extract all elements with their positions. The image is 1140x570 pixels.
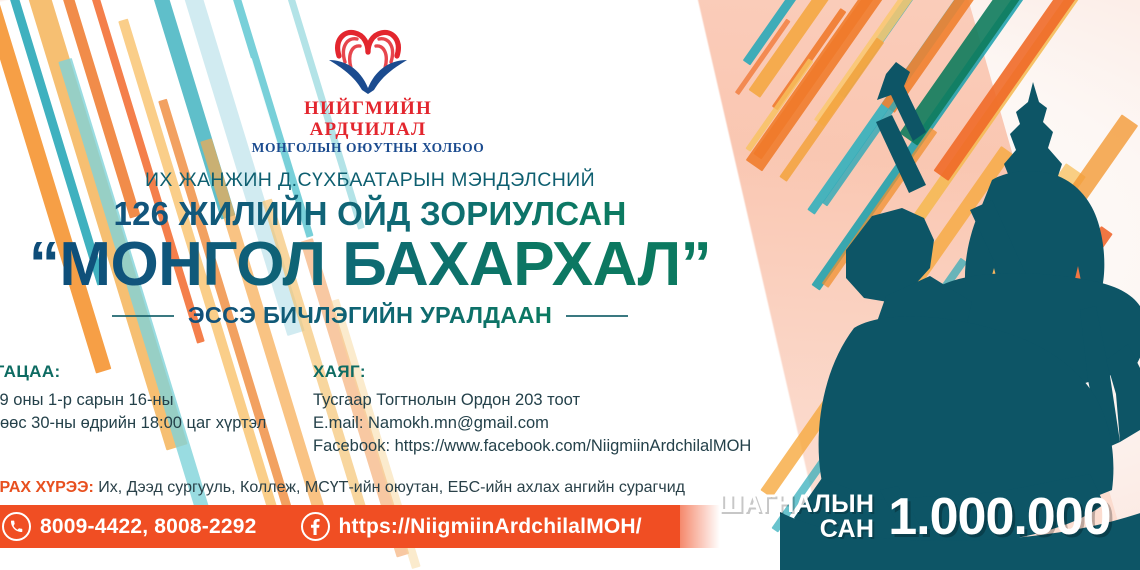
duration-section: ХУГАЦАА: 2019 оны 1-р сарын 16-ны өдрөөс… <box>0 362 272 435</box>
phone-icon <box>2 512 31 541</box>
logo-line-1: НИЙГМИЙН АРДЧИЛАЛ <box>248 98 488 140</box>
phone-contact[interactable]: 8009-4422, 8008-2292 <box>2 512 257 541</box>
heart-logo-icon <box>298 24 438 96</box>
prize-section: ШАГНАЛЫН САН 1.000.000 <box>718 492 1111 542</box>
duration-line-1: 2019 оны 1-р сарын 16-ны <box>0 389 272 412</box>
facebook-icon <box>301 512 330 541</box>
prize-label-line-2: САН <box>718 517 874 542</box>
address-email[interactable]: E.mail: Namokh.mn@gmail.com <box>313 412 783 435</box>
organization-logo: НИЙГМИЙН АРДЧИЛАЛ МОНГОЛЫН ОЮУТНЫ ХОЛБОО <box>248 24 488 144</box>
rule-right <box>566 315 628 317</box>
address-section: ХАЯГ: Тусгаар Тогтнолын Ордон 203 тоот E… <box>313 362 783 458</box>
address-facebook[interactable]: Facebook: https://www.facebook.com/Niigm… <box>313 435 783 458</box>
scope-line: ХАМРАХ ХҮРЭЭ: Их, Дээд сургууль, Коллеж,… <box>0 478 685 498</box>
headline-kicker: ИХ ЖАНЖИН Д.СҮХБААТАРЫН МЭНДЭЛСНИЙ <box>0 168 740 192</box>
scope-value: Их, Дээд сургууль, Коллеж, МСҮТ-ийн оюут… <box>98 479 685 496</box>
address-line-1: Тусгаар Тогтнолын Ордон 203 тоот <box>313 389 783 412</box>
headline-years: 126 ЖИЛИЙН ОЙД ЗОРИУЛСАН <box>0 194 740 234</box>
facebook-url: https://NiigmiinArdchilalMOH/ <box>339 515 642 539</box>
prize-amount: 1.000.000 <box>888 492 1110 542</box>
poster-canvas: НИЙГМИЙН АРДЧИЛАЛ МОНГОЛЫН ОЮУТНЫ ХОЛБОО… <box>0 0 1140 570</box>
facebook-contact[interactable]: https://NiigmiinArdchilalMOH/ <box>301 512 642 541</box>
page-title: “МОНГОЛ БАХАРХАЛ” <box>0 232 740 298</box>
headline-block: ИХ ЖАНЖИН Д.СҮХБААТАРЫН МЭНДЭЛСНИЙ 126 Ж… <box>0 168 740 329</box>
duration-heading: ХУГАЦАА: <box>0 362 272 382</box>
duration-line-2: өдрөөс 30-ны өдрийн 18:00 цаг хүртэл <box>0 412 272 435</box>
phone-numbers: 8009-4422, 8008-2292 <box>40 515 257 539</box>
logo-line-2: МОНГОЛЫН ОЮУТНЫ ХОЛБОО <box>248 140 488 155</box>
prize-label-line-1: ШАГНАЛЫН <box>718 492 874 517</box>
contact-bar-fade <box>660 505 720 548</box>
headline-subtitle-row: ЭССЭ БИЧЛЭГИЙН УРАЛДААН <box>0 302 740 329</box>
prize-label: ШАГНАЛЫН САН <box>718 492 874 542</box>
scope-label: ХАМРАХ ХҮРЭЭ: <box>0 479 94 496</box>
rule-left <box>112 315 174 317</box>
contact-bar: 8009-4422, 8008-2292 https://NiigmiinArd… <box>0 505 680 548</box>
headline-subtitle: ЭССЭ БИЧЛЭГИЙН УРАЛДААН <box>188 302 552 329</box>
address-heading: ХАЯГ: <box>313 362 783 382</box>
